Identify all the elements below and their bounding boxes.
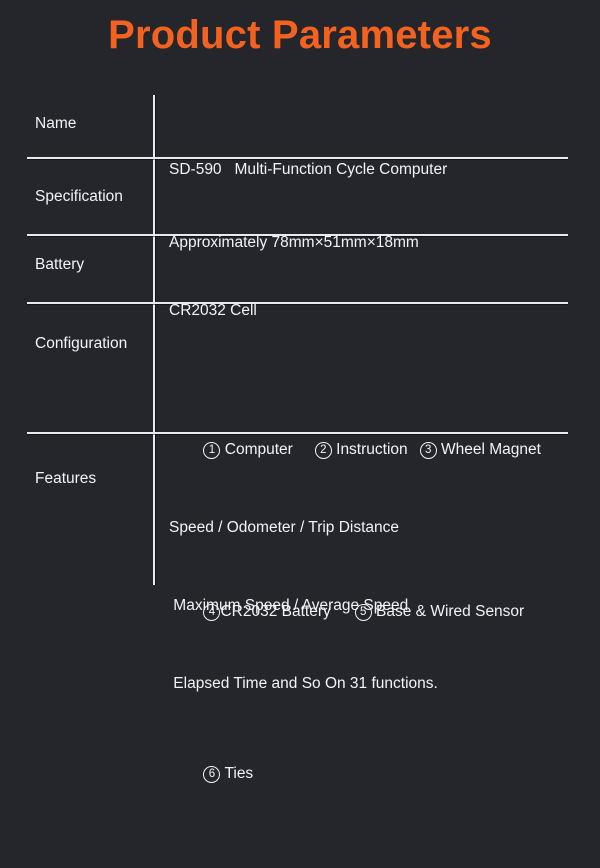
features-line-3: Elapsed Time and So On 31 functions. bbox=[169, 671, 438, 697]
parameters-table: Name SD-590 Multi-Function Cycle Compute… bbox=[27, 95, 568, 587]
row-label-features: Features bbox=[35, 467, 96, 490]
name-line-1: SD-590 Multi-Function Cycle Computer bbox=[169, 158, 447, 181]
configuration-item-3: 3 Wheel Magnet bbox=[420, 436, 541, 463]
configuration-item-1: 1 Computer bbox=[203, 436, 292, 463]
row-label-specification: Specification bbox=[35, 185, 123, 208]
battery-line-1: CR2032 Cell bbox=[169, 299, 257, 322]
configuration-item-2: 2 Instruction bbox=[315, 436, 408, 463]
column-divider bbox=[153, 95, 155, 585]
circled-number-6-icon: 6 bbox=[203, 766, 220, 783]
specification-line-1: Approximately 78mm×51mm×18mm bbox=[169, 231, 419, 254]
configuration-item-6-label: Ties bbox=[220, 765, 253, 782]
product-parameters-page: Product Parameters Name SD-590 Multi-Fun… bbox=[0, 0, 600, 600]
configuration-item-2-label: Instruction bbox=[332, 441, 408, 458]
circled-number-3-icon: 3 bbox=[420, 442, 437, 459]
row-label-configuration: Configuration bbox=[35, 332, 127, 355]
features-line-2: Maximum Speed / Average Speed bbox=[169, 593, 438, 619]
page-title: Product Parameters bbox=[0, 9, 600, 61]
row-value-features: Speed / Odometer / Trip Distance Maximum… bbox=[169, 463, 438, 749]
configuration-item-1-label: Computer bbox=[220, 441, 292, 458]
row-divider-3 bbox=[27, 302, 568, 304]
row-label-battery: Battery bbox=[35, 253, 84, 276]
circled-number-2-icon: 2 bbox=[315, 442, 332, 459]
configuration-item-6: 6 Ties bbox=[203, 760, 253, 787]
features-line-1: Speed / Odometer / Trip Distance bbox=[169, 515, 438, 541]
circled-number-1-icon: 1 bbox=[203, 442, 220, 459]
row-label-name: Name bbox=[35, 112, 76, 135]
configuration-item-3-label: Wheel Magnet bbox=[437, 441, 541, 458]
